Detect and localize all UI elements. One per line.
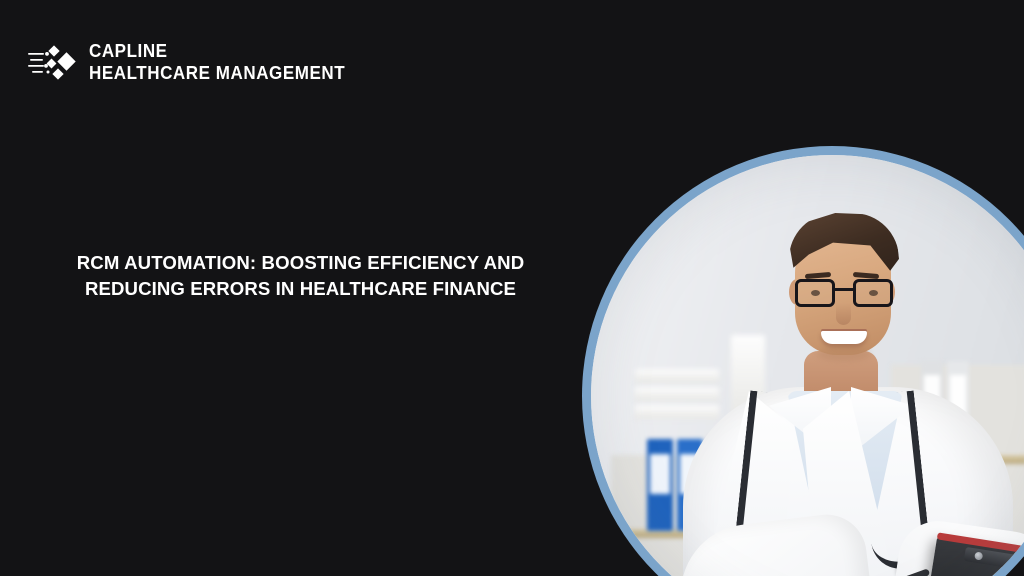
page-title: RCM AUTOMATION: BOOSTING EFFICIENCY AND … [68,250,533,303]
glasses-lens [795,279,835,307]
smiling-mouth [821,331,867,344]
page-title-line-1: RCM AUTOMATION: BOOSTING EFFICIENCY AND [68,250,533,276]
diamond-cluster-motion-icon [28,40,78,84]
brand-logo-text: CAPLINE HEALTHCARE MANAGEMENT [89,42,367,82]
banner-canvas: CAPLINE HEALTHCARE MANAGEMENT RCM AUTOMA… [0,0,1024,576]
brand-logo[interactable]: CAPLINE HEALTHCARE MANAGEMENT [28,40,367,84]
doctor-photo-circle [582,146,1024,576]
chin-shadow [817,347,871,361]
brand-name-line-1: CAPLINE [89,42,345,61]
doctor-photo [591,155,1024,576]
glasses-bridge [835,288,853,291]
eyeglasses-icon [795,279,893,309]
doctor-figure [591,155,1024,576]
brand-name-line-2: HEALTHCARE MANAGEMENT [89,64,345,83]
page-title-line-2: REDUCING ERRORS IN HEALTHCARE FINANCE [68,276,533,302]
glasses-lens [853,279,893,307]
